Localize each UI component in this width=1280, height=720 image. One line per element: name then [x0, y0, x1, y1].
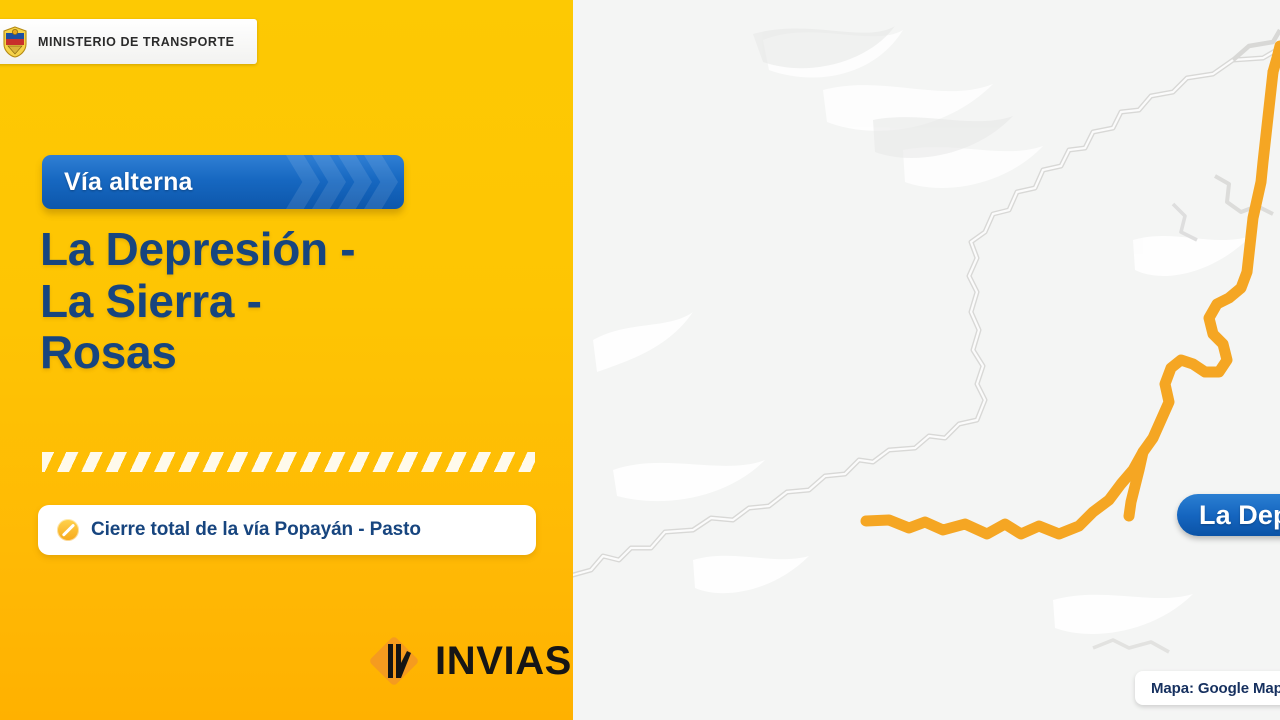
page-title-line-3: Rosas	[40, 327, 540, 379]
map-place-la-depresion-label: La Depresión	[1199, 500, 1280, 531]
map-attribution-label: Mapa: Google Maps	[1151, 680, 1280, 697]
via-alterna-badge: Vía alterna	[42, 155, 404, 209]
chevron-right-icon	[248, 155, 398, 209]
road-closure-poster: MINISTERIO DE TRANSPORTE Vía alterna La …	[0, 0, 1280, 720]
colombia-coat-of-arms-icon	[2, 26, 28, 58]
invias-diamond-icon	[366, 633, 422, 689]
closure-notice: Cierre total de la vía Popayán - Pasto	[38, 505, 536, 555]
closure-notice-text: Cierre total de la vía Popayán - Pasto	[91, 519, 421, 541]
hazard-stripe-divider	[42, 452, 535, 472]
via-alterna-label: Vía alterna	[42, 168, 193, 197]
page-title-line-2: La Sierra -	[40, 276, 540, 328]
map-panel[interactable]: Vda. El Cefiro Vda. Gr Vda. Depresion Vd…	[573, 0, 1280, 720]
invias-logo: INVIAS	[366, 633, 572, 689]
ministry-label: MINISTERIO DE TRANSPORTE	[38, 35, 235, 49]
via-alterna-badge-body: Vía alterna	[42, 155, 404, 209]
map-attribution: Mapa: Google Maps	[1135, 671, 1280, 705]
info-panel: MINISTERIO DE TRANSPORTE Vía alterna La …	[0, 0, 573, 720]
page-title-line-1: La Depresión -	[40, 224, 540, 276]
ministry-chip: MINISTERIO DE TRANSPORTE	[0, 19, 257, 64]
map-place-la-depresion[interactable]: La Depresión	[1177, 494, 1280, 536]
page-title: La Depresión - La Sierra - Rosas	[40, 224, 540, 379]
no-entry-icon	[57, 519, 79, 541]
map-canvas	[573, 0, 1280, 720]
invias-wordmark: INVIAS	[435, 641, 572, 681]
